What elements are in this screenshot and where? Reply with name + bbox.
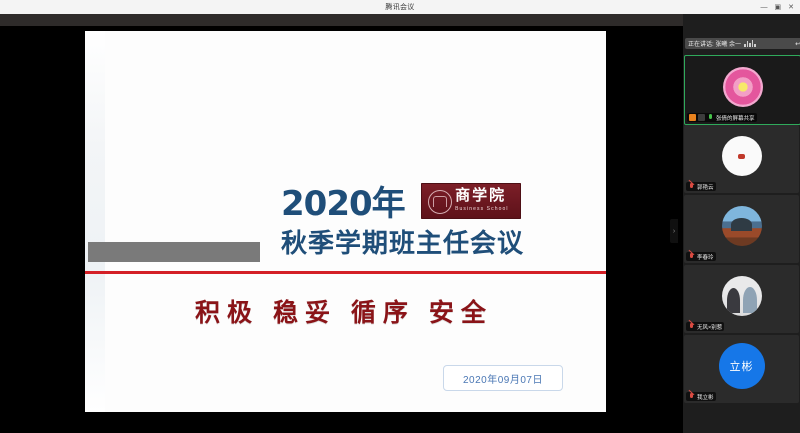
mic-on-icon (707, 114, 714, 121)
participant-name-chip: 无风×别惹 (686, 322, 724, 331)
slide-date-text: 2020年09月07日 (463, 371, 543, 386)
logo-chinese-text: 商学院 (455, 188, 506, 203)
mic-off-icon (688, 183, 695, 190)
shared-screen-stage: 2020年 商学院 Business School 秋季学期班主任会议 积极 稳… (0, 26, 683, 418)
scene-avatar (722, 206, 762, 246)
slide-subtitle: 秋季学期班主任会议 (281, 229, 606, 258)
participant-tile[interactable]: 郭艳云 (684, 125, 799, 193)
window-controls: — ▣ ✕ (761, 0, 799, 14)
presentation-slide: 2020年 商学院 Business School 秋季学期班主任会议 积极 稳… (85, 31, 606, 412)
participant-name: 我立彬 (697, 393, 714, 401)
slide-gray-bar (88, 242, 260, 262)
slide-slogan: 积极 稳妥 循序 安全 (195, 293, 493, 329)
window-title: 腾讯会议 (385, 2, 414, 12)
slide-date-box: 2020年09月07日 (443, 365, 563, 391)
participant-name: 张倩的屏幕共享 (716, 114, 755, 122)
participant-tile[interactable]: 李春玲 (684, 195, 799, 263)
audio-wave-icon (744, 40, 756, 47)
maximize-icon[interactable]: ▣ (775, 4, 782, 11)
participant-name: 李春玲 (697, 253, 714, 261)
flower-avatar (723, 67, 763, 107)
participants-panel: 正在讲话: 张曦 余一 ↩ 张倩的屏幕共享 郭艳云 (683, 14, 800, 433)
slide-red-rule (85, 271, 606, 274)
white-avatar (722, 136, 762, 176)
blue-avatar: 立彬 (719, 343, 765, 389)
blue-avatar-label: 立彬 (730, 358, 754, 374)
participant-name-chip: 张倩的屏幕共享 (687, 113, 757, 122)
user-icon (689, 114, 696, 121)
active-speaker-label: 正在讲话: 张曦 余一 (688, 39, 741, 48)
active-speaker-banner: 正在讲话: 张曦 余一 ↩ (685, 38, 800, 49)
minimize-icon[interactable]: — (761, 4, 768, 11)
mic-off-icon (688, 323, 695, 330)
slide-headline-block: 2020年 商学院 Business School 秋季学期班主任会议 (281, 183, 606, 258)
slide-canvas: 2020年 商学院 Business School 秋季学期班主任会议 积极 稳… (85, 31, 606, 412)
business-school-logo: 商学院 Business School (421, 183, 521, 219)
participant-name: 无风×别惹 (697, 323, 722, 331)
toolbar-strip (0, 14, 683, 26)
tencent-meeting-window: 腾讯会议 — ▣ ✕ 2020年 商学院 Business School (0, 0, 800, 433)
close-icon[interactable]: ✕ (788, 4, 794, 11)
participant-tile[interactable]: 张倩的屏幕共享 (684, 55, 800, 125)
logo-english-text: Business School (455, 206, 508, 212)
back-arrow-icon[interactable]: ↩ (795, 40, 800, 48)
slide-year: 2020年 (281, 187, 405, 221)
participant-tile[interactable]: 无风×别惹 (684, 265, 799, 333)
participant-name-chip: 李春玲 (686, 252, 716, 261)
participant-name-chip: 郭艳云 (686, 182, 716, 191)
collapse-panel-button[interactable]: › (670, 219, 678, 243)
mic-off-icon (688, 253, 695, 260)
chevron-right-icon: › (673, 228, 675, 235)
camera-icon (698, 114, 705, 121)
slide-edge-decoration (85, 31, 105, 412)
mic-off-icon (688, 393, 695, 400)
people-avatar (722, 276, 762, 316)
participant-tile[interactable]: 立彬 我立彬 (684, 335, 799, 403)
participant-name-chip: 我立彬 (686, 392, 716, 401)
participant-name: 郭艳云 (697, 183, 714, 191)
title-bar: 腾讯会议 — ▣ ✕ (0, 0, 800, 15)
school-emblem-icon (428, 190, 452, 214)
